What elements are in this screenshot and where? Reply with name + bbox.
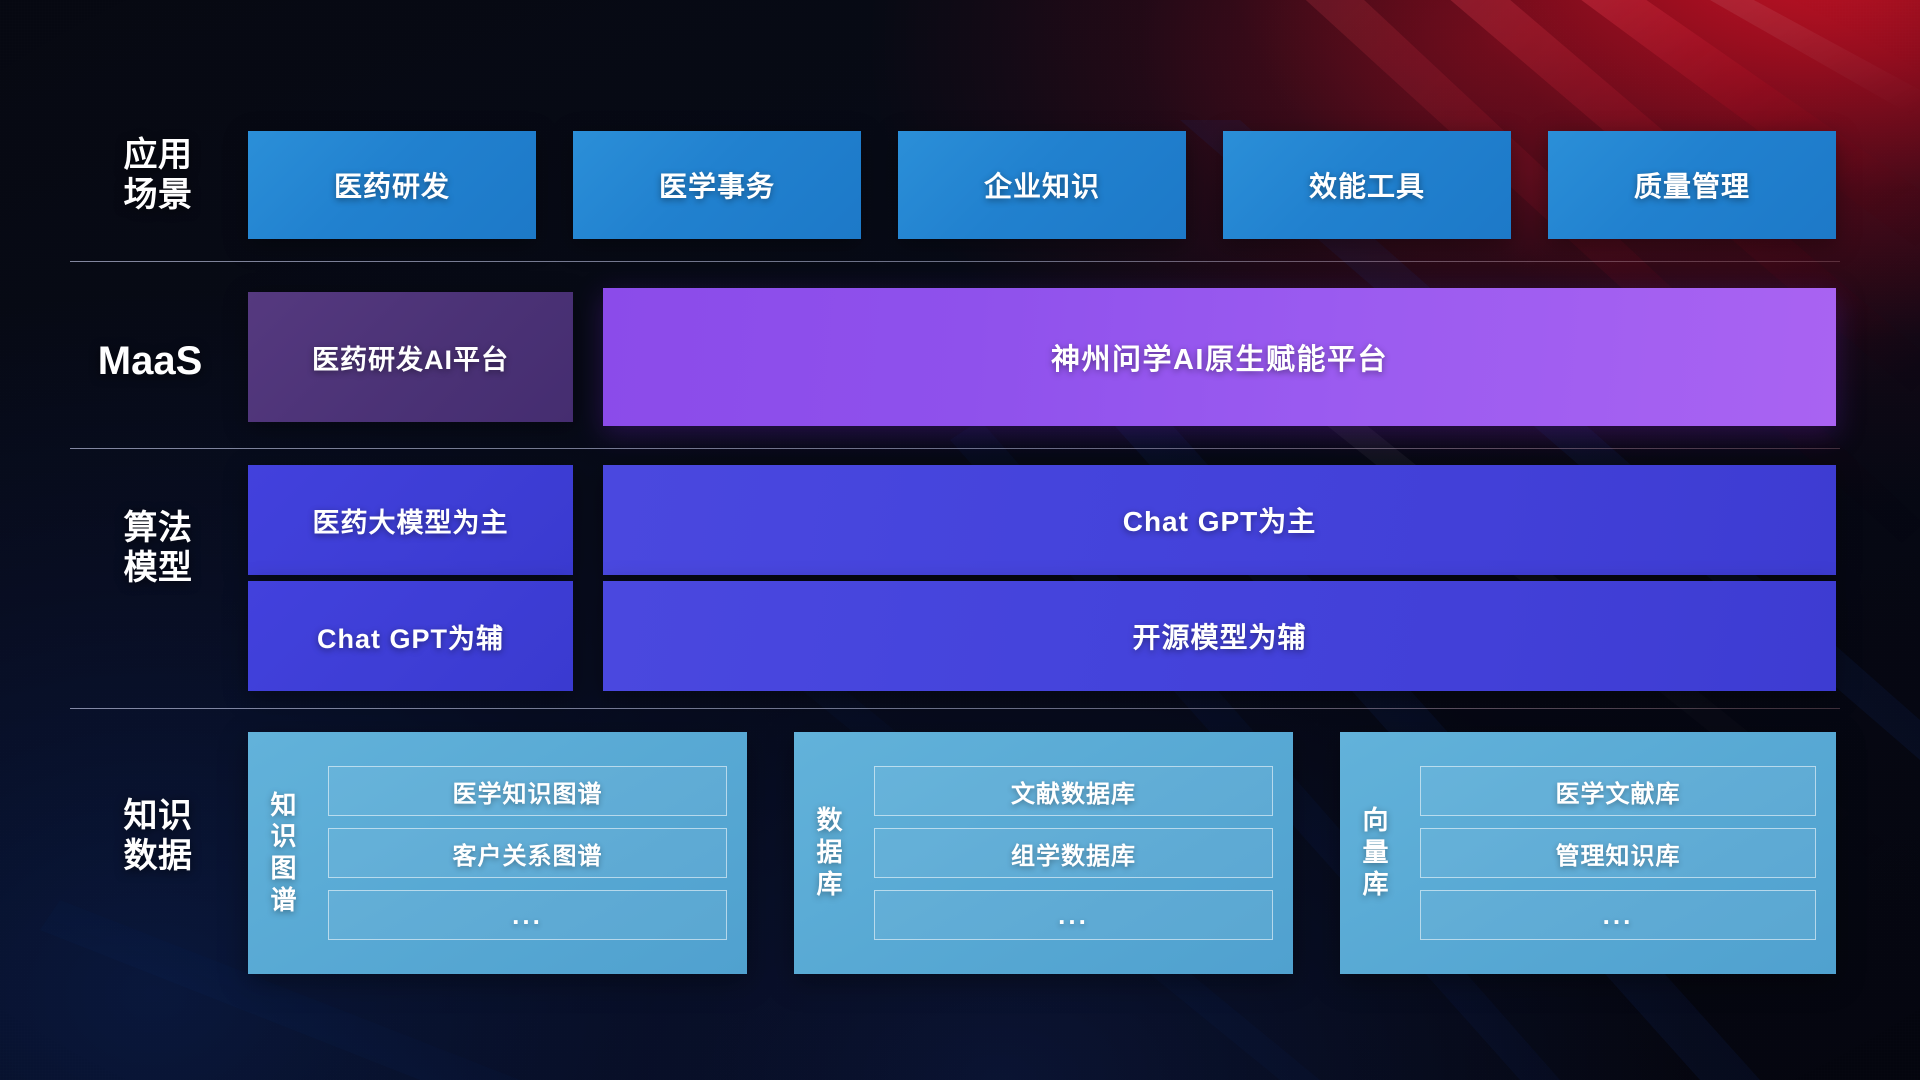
- row-label-knowledge-line1: 知识: [88, 796, 228, 836]
- app-card-3[interactable]: 企业知识: [898, 131, 1186, 239]
- knowledge-group-1-items: 医学知识图谱 客户关系图谱 ...: [320, 732, 747, 974]
- maas-card-right[interactable]: 神州问学AI原生赋能平台: [603, 288, 1836, 426]
- algo-card-left-1[interactable]: 医药大模型为主: [248, 465, 573, 575]
- knowledge-group-3-title-char2: 量: [1362, 837, 1389, 869]
- algo-card-left-2[interactable]: Chat GPT为辅: [248, 581, 573, 691]
- row-label-algorithm-line2: 模型: [88, 548, 228, 588]
- knowledge-group-3[interactable]: 向 量 库 医学文献库 管理知识库 ...: [1340, 732, 1836, 974]
- row-separator-2: [70, 448, 1840, 449]
- maas-card-left[interactable]: 医药研发AI平台: [248, 292, 573, 422]
- app-card-1[interactable]: 医药研发: [248, 131, 536, 239]
- row-label-application-line1: 应用: [88, 135, 228, 175]
- app-card-4[interactable]: 效能工具: [1223, 131, 1511, 239]
- knowledge-group-2[interactable]: 数 据 库 文献数据库 组学数据库 ...: [794, 732, 1293, 974]
- knowledge-group-2-title: 数 据 库: [794, 732, 866, 974]
- row-separator-3: [70, 708, 1840, 709]
- row-label-knowledge: 知识 数据: [88, 796, 228, 876]
- knowledge-group-2-title-char3: 库: [816, 869, 843, 901]
- row-label-application: 应用 场景: [88, 135, 228, 215]
- row-label-application-line2: 场景: [88, 175, 228, 215]
- knowledge-group-1-title-char1: 知: [270, 790, 297, 822]
- row-label-algorithm: 算法 模型: [88, 508, 228, 588]
- algo-card-right-2[interactable]: 开源模型为辅: [603, 581, 1836, 691]
- knowledge-item-more[interactable]: ...: [874, 890, 1273, 940]
- row-separator-1: [70, 261, 1840, 262]
- row-label-maas: MaaS: [80, 338, 220, 385]
- app-card-5[interactable]: 质量管理: [1548, 131, 1836, 239]
- app-card-2[interactable]: 医学事务: [573, 131, 861, 239]
- knowledge-group-2-items: 文献数据库 组学数据库 ...: [866, 732, 1293, 974]
- row-label-knowledge-line2: 数据: [88, 836, 228, 876]
- knowledge-item[interactable]: 医学文献库: [1420, 766, 1816, 816]
- row-label-maas-text: MaaS: [80, 338, 220, 385]
- knowledge-group-1-title-char2: 识: [270, 821, 297, 853]
- knowledge-group-3-title: 向 量 库: [1340, 732, 1412, 974]
- knowledge-group-3-items: 医学文献库 管理知识库 ...: [1412, 732, 1836, 974]
- knowledge-item[interactable]: 客户关系图谱: [328, 828, 727, 878]
- knowledge-item[interactable]: 管理知识库: [1420, 828, 1816, 878]
- row-label-algorithm-line1: 算法: [88, 508, 228, 548]
- knowledge-group-3-title-char1: 向: [1362, 805, 1389, 837]
- knowledge-item[interactable]: 医学知识图谱: [328, 766, 727, 816]
- knowledge-group-1-title: 知 识 图 谱: [248, 732, 320, 974]
- knowledge-group-2-title-char2: 据: [816, 837, 843, 869]
- knowledge-item-more[interactable]: ...: [1420, 890, 1816, 940]
- algo-card-right-1[interactable]: Chat GPT为主: [603, 465, 1836, 575]
- knowledge-item[interactable]: 组学数据库: [874, 828, 1273, 878]
- knowledge-group-1-title-char4: 谱: [270, 885, 297, 917]
- knowledge-item-more[interactable]: ...: [328, 890, 727, 940]
- knowledge-item[interactable]: 文献数据库: [874, 766, 1273, 816]
- slide-canvas: 应用 场景 医药研发 医学事务 企业知识 效能工具 质量管理 MaaS 医药研发…: [0, 0, 1920, 1080]
- knowledge-group-1[interactable]: 知 识 图 谱 医学知识图谱 客户关系图谱 ...: [248, 732, 747, 974]
- knowledge-group-1-title-char3: 图: [270, 853, 297, 885]
- knowledge-group-3-title-char3: 库: [1362, 869, 1389, 901]
- knowledge-group-2-title-char1: 数: [816, 805, 843, 837]
